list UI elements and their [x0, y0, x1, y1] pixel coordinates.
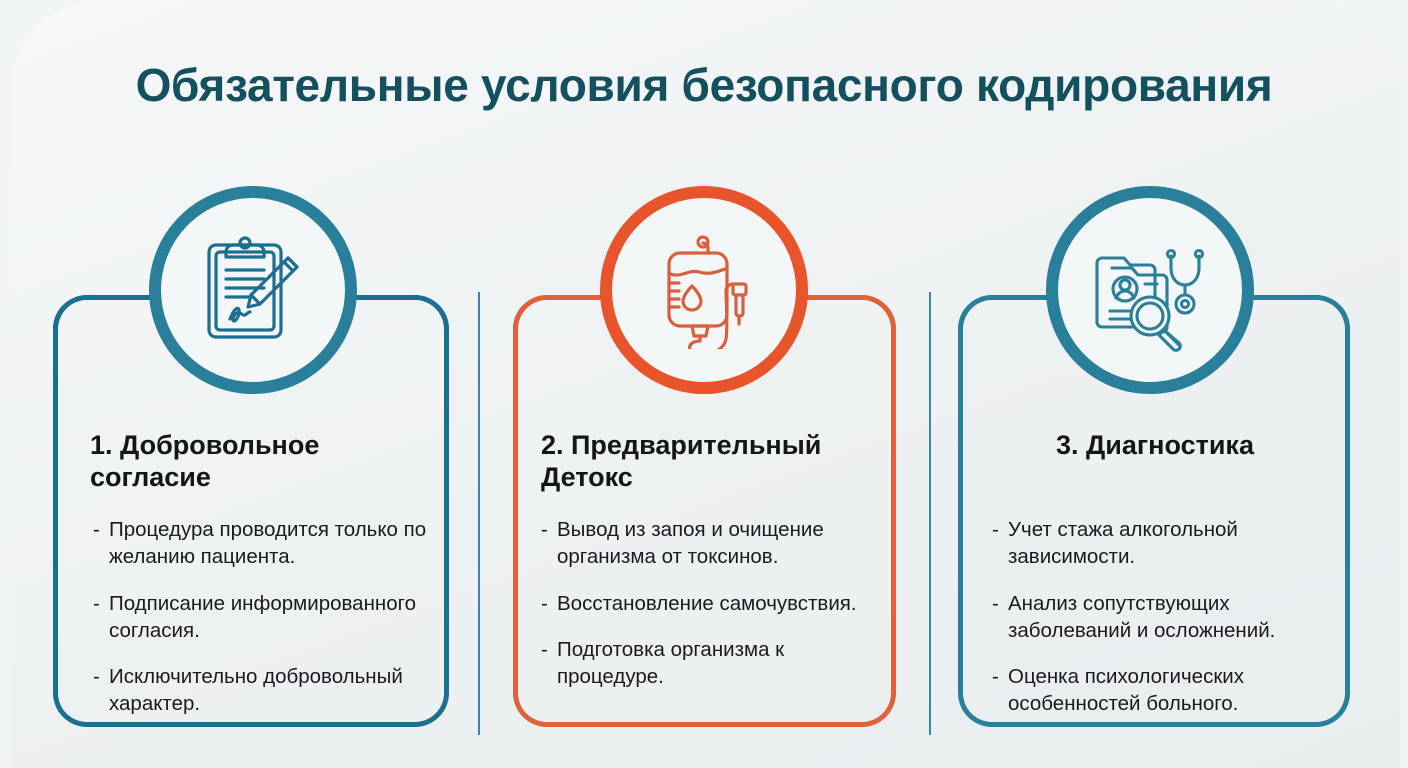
column-divider-2: [929, 292, 931, 735]
list-item: -Подготовка организма к процедуре.: [541, 636, 881, 691]
list-item: -Оценка психологических особенностей бол…: [992, 663, 1337, 718]
icon-circle-2: [600, 186, 808, 394]
list-item: -Подписание информированного согласия.: [93, 590, 438, 645]
card-1-bullets: -Процедура проводится только по желанию …: [93, 516, 438, 718]
list-item: -Вывод из запоя и очищение организма от …: [541, 516, 881, 571]
medical-record-magnifier-stethoscope-icon: [1088, 228, 1212, 352]
list-item: -Исключительно добровольный характер.: [93, 663, 438, 718]
icon-circle-1: [149, 186, 357, 394]
list-item-text: Учет стажа алкогольной зависимости.: [1008, 518, 1238, 568]
card-1-title: 1. Добровольное согласие: [90, 430, 420, 494]
list-item: -Восстановление самочувствия.: [541, 590, 881, 617]
bullet-dash: -: [541, 590, 548, 617]
page-title: Обязательные условия безопасного кодиров…: [0, 58, 1408, 112]
list-item-text: Вывод из запоя и очищение организма от т…: [557, 518, 824, 568]
list-item-text: Восстановление самочувствия.: [557, 592, 857, 615]
bullet-dash: -: [541, 516, 548, 543]
card-3-title: 3. Диагностика: [975, 430, 1335, 462]
list-item-text: Исключительно добровольный характер.: [109, 665, 403, 715]
bullet-dash: -: [93, 590, 100, 617]
bullet-dash: -: [541, 636, 548, 663]
column-divider-1: [478, 292, 480, 735]
list-item: -Анализ сопутствующих заболеваний и осло…: [992, 590, 1337, 645]
list-item-text: Подписание информированного согласия.: [109, 592, 416, 642]
bullet-dash: -: [992, 516, 999, 543]
list-item: -Учет стажа алкогольной зависимости.: [992, 516, 1337, 571]
card-3-top-border-right: [1248, 295, 1320, 300]
bullet-dash: -: [93, 516, 100, 543]
card-2-bullets: -Вывод из запоя и очищение организма от …: [541, 516, 881, 690]
list-item-text: Подготовка организма к процедуре.: [557, 638, 784, 688]
bullet-dash: -: [992, 590, 999, 617]
list-item: -Процедура проводится только по желанию …: [93, 516, 438, 571]
card-3-bullets: -Учет стажа алкогольной зависимости. -Ан…: [992, 516, 1337, 718]
iv-drip-bag-icon: [645, 231, 763, 349]
infographic-canvas: Обязательные условия безопасного кодиров…: [0, 0, 1408, 768]
bullet-dash: -: [93, 663, 100, 690]
clipboard-signature-pen-icon: [192, 229, 314, 351]
list-item-text: Анализ сопутствующих заболеваний и ослож…: [1008, 592, 1275, 642]
icon-circle-3: [1046, 186, 1254, 394]
card-2-title: 2. Предварительный Детокс: [541, 430, 871, 494]
list-item-text: Оценка психологических особенностей боль…: [1008, 665, 1244, 715]
card-3-top-border-left: [989, 295, 1051, 300]
list-item-text: Процедура проводится только по желанию п…: [109, 518, 426, 568]
bullet-dash: -: [992, 663, 999, 690]
